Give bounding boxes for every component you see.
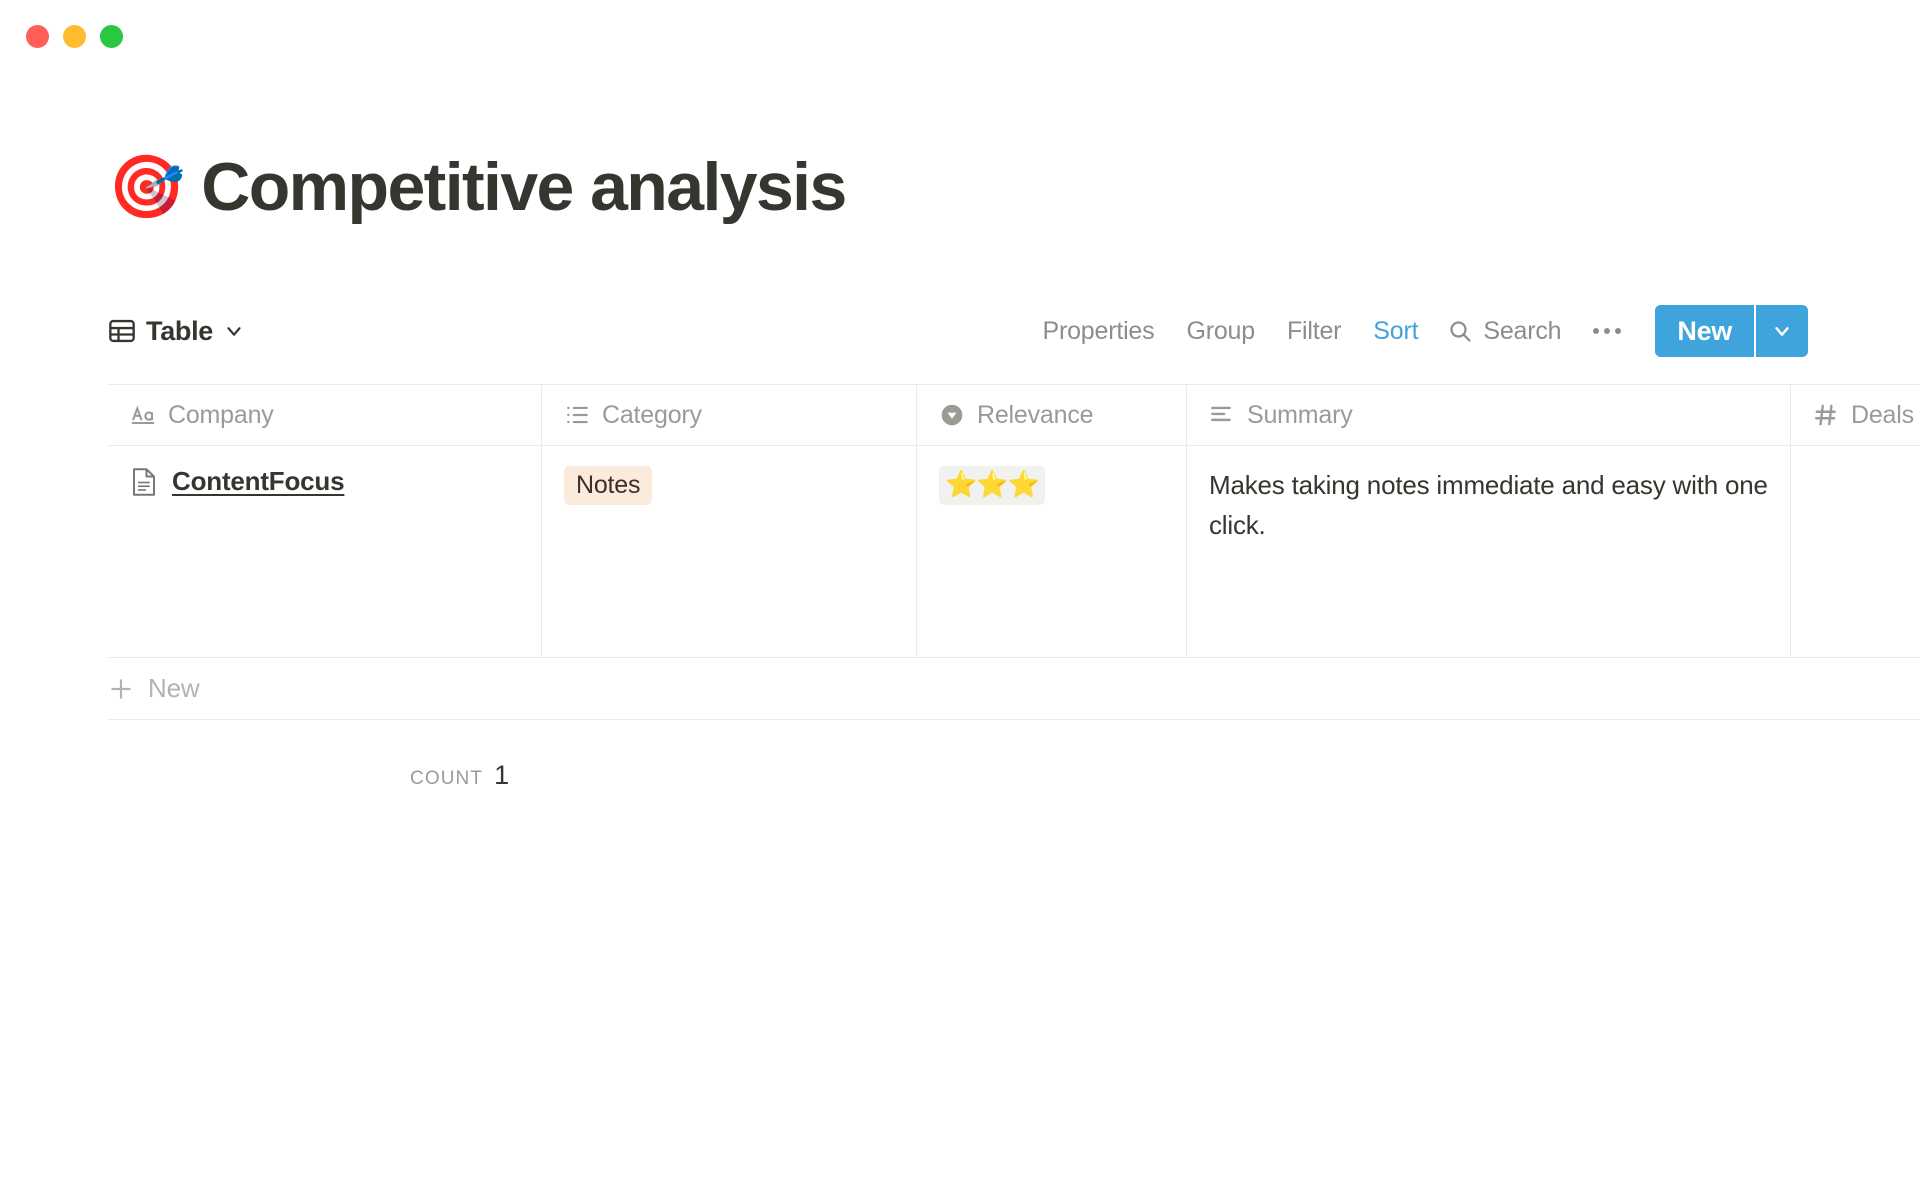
search-button[interactable]: Search: [1434, 311, 1575, 352]
new-dropdown-button[interactable]: [1754, 305, 1808, 357]
column-header-relevance[interactable]: Relevance: [917, 385, 1187, 445]
ellipsis-dot-icon: [1593, 328, 1599, 334]
column-header-label: Summary: [1247, 401, 1353, 430]
cell-deals[interactable]: [1791, 446, 1920, 657]
text-lines-icon: [1209, 402, 1235, 428]
column-header-category[interactable]: Category: [542, 385, 917, 445]
ellipsis-dot-icon: [1615, 328, 1621, 334]
table-grid-icon: [108, 317, 136, 345]
column-header-deals[interactable]: Deals: [1791, 385, 1920, 445]
count-value: 1: [494, 760, 509, 791]
view-switcher-label: Table: [146, 316, 213, 347]
count-label: Count: [410, 768, 483, 790]
page-header: 🎯 Competitive analysis: [108, 150, 846, 225]
minimize-window-button[interactable]: [63, 25, 86, 48]
column-header-label: Deals: [1851, 401, 1914, 430]
new-button[interactable]: New: [1655, 305, 1754, 357]
view-switcher-table[interactable]: Table: [108, 316, 245, 347]
page-emoji-icon[interactable]: 🎯: [108, 156, 185, 218]
window-titlebar: [0, 0, 1920, 72]
plus-icon: [108, 676, 134, 702]
page-document-icon: [130, 467, 158, 497]
maximize-window-button[interactable]: [100, 25, 123, 48]
properties-button[interactable]: Properties: [1027, 311, 1171, 352]
hash-number-icon: [1813, 402, 1839, 428]
add-new-row-button[interactable]: New: [108, 658, 1920, 720]
chevron-down-icon: [1771, 320, 1793, 342]
ellipsis-dot-icon: [1604, 328, 1610, 334]
group-button[interactable]: Group: [1170, 311, 1270, 352]
column-header-label: Relevance: [977, 401, 1093, 430]
close-window-button[interactable]: [26, 25, 49, 48]
add-new-row-label: New: [148, 673, 199, 704]
column-header-label: Category: [602, 401, 702, 430]
relevance-rating[interactable]: ⭐⭐⭐: [939, 466, 1045, 505]
chevron-down-icon: [223, 320, 245, 342]
more-options-button[interactable]: [1575, 322, 1639, 340]
list-select-icon: [564, 402, 590, 428]
count-summary[interactable]: Count 1: [410, 760, 509, 791]
filter-button[interactable]: Filter: [1271, 311, 1357, 352]
circle-caret-icon: [939, 402, 965, 428]
new-button-group: New: [1655, 305, 1808, 357]
text-aa-icon: [130, 402, 156, 428]
page-title[interactable]: Competitive analysis: [201, 150, 845, 225]
category-tag[interactable]: Notes: [564, 466, 652, 505]
table-header-row: Company Category: [108, 384, 1920, 446]
cell-relevance[interactable]: ⭐⭐⭐: [917, 446, 1187, 657]
column-header-summary[interactable]: Summary: [1187, 385, 1791, 445]
summary-text: Makes taking notes immediate and easy wi…: [1209, 466, 1768, 545]
cell-company[interactable]: ContentFocus: [108, 446, 542, 657]
column-header-label: Company: [168, 401, 274, 430]
sort-button[interactable]: Sort: [1357, 311, 1434, 352]
toolbar-actions: Properties Group Filter Sort Search New: [1027, 305, 1809, 357]
cell-category[interactable]: Notes: [542, 446, 917, 657]
cell-summary[interactable]: Makes taking notes immediate and easy wi…: [1187, 446, 1791, 657]
search-label: Search: [1483, 317, 1561, 346]
column-header-company[interactable]: Company: [108, 385, 542, 445]
table-row[interactable]: ContentFocus Notes ⭐⭐⭐ Makes taking note…: [108, 446, 1920, 658]
company-name-link[interactable]: ContentFocus: [172, 466, 344, 497]
database-table: Company Category: [108, 384, 1920, 658]
view-toolbar: Table Properties Group Filter Sort Searc…: [108, 300, 1808, 362]
search-icon: [1448, 319, 1472, 343]
